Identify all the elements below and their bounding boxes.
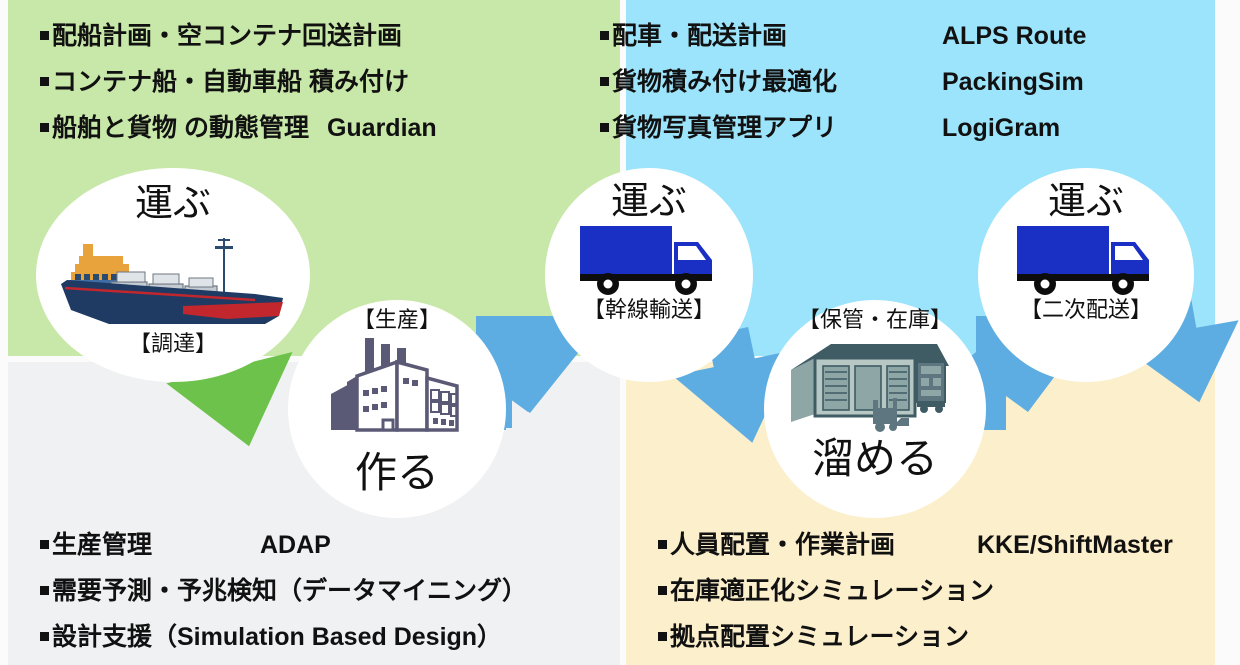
- node-last-mile-stage-label: 【二次配送】: [1020, 300, 1152, 322]
- node-last-mile-delivery[interactable]: 運ぶ 【二次配送】: [978, 168, 1194, 382]
- truck-icon: [1015, 220, 1157, 300]
- factory-icon: [323, 332, 471, 450]
- node-procurement-verb: 運ぶ: [135, 184, 211, 222]
- node-storage[interactable]: 【保管・在庫】: [764, 300, 986, 518]
- node-production-stage-label: 【生産】: [353, 310, 441, 332]
- node-trunk-transport-stage-label: 【幹線輸送】: [583, 300, 715, 322]
- node-storage-stage-label: 【保管・在庫】: [798, 310, 952, 332]
- node-procurement-stage-label: 【調達】: [129, 334, 217, 356]
- supply-chain-diagram: 運ぶ: [0, 0, 1240, 665]
- node-production-verb: 作る: [355, 452, 439, 494]
- node-production[interactable]: 【生産】: [288, 300, 506, 518]
- node-procurement[interactable]: 運ぶ: [36, 168, 310, 382]
- container-ship-icon: [57, 222, 289, 334]
- node-last-mile-verb: 運ぶ: [1048, 182, 1124, 220]
- node-trunk-transport-verb: 運ぶ: [611, 182, 687, 220]
- node-trunk-transport[interactable]: 運ぶ 【幹線輸送】: [545, 168, 753, 382]
- truck-icon: [578, 220, 720, 300]
- node-storage-verb: 溜める: [812, 438, 938, 480]
- warehouse-icon: [787, 332, 963, 438]
